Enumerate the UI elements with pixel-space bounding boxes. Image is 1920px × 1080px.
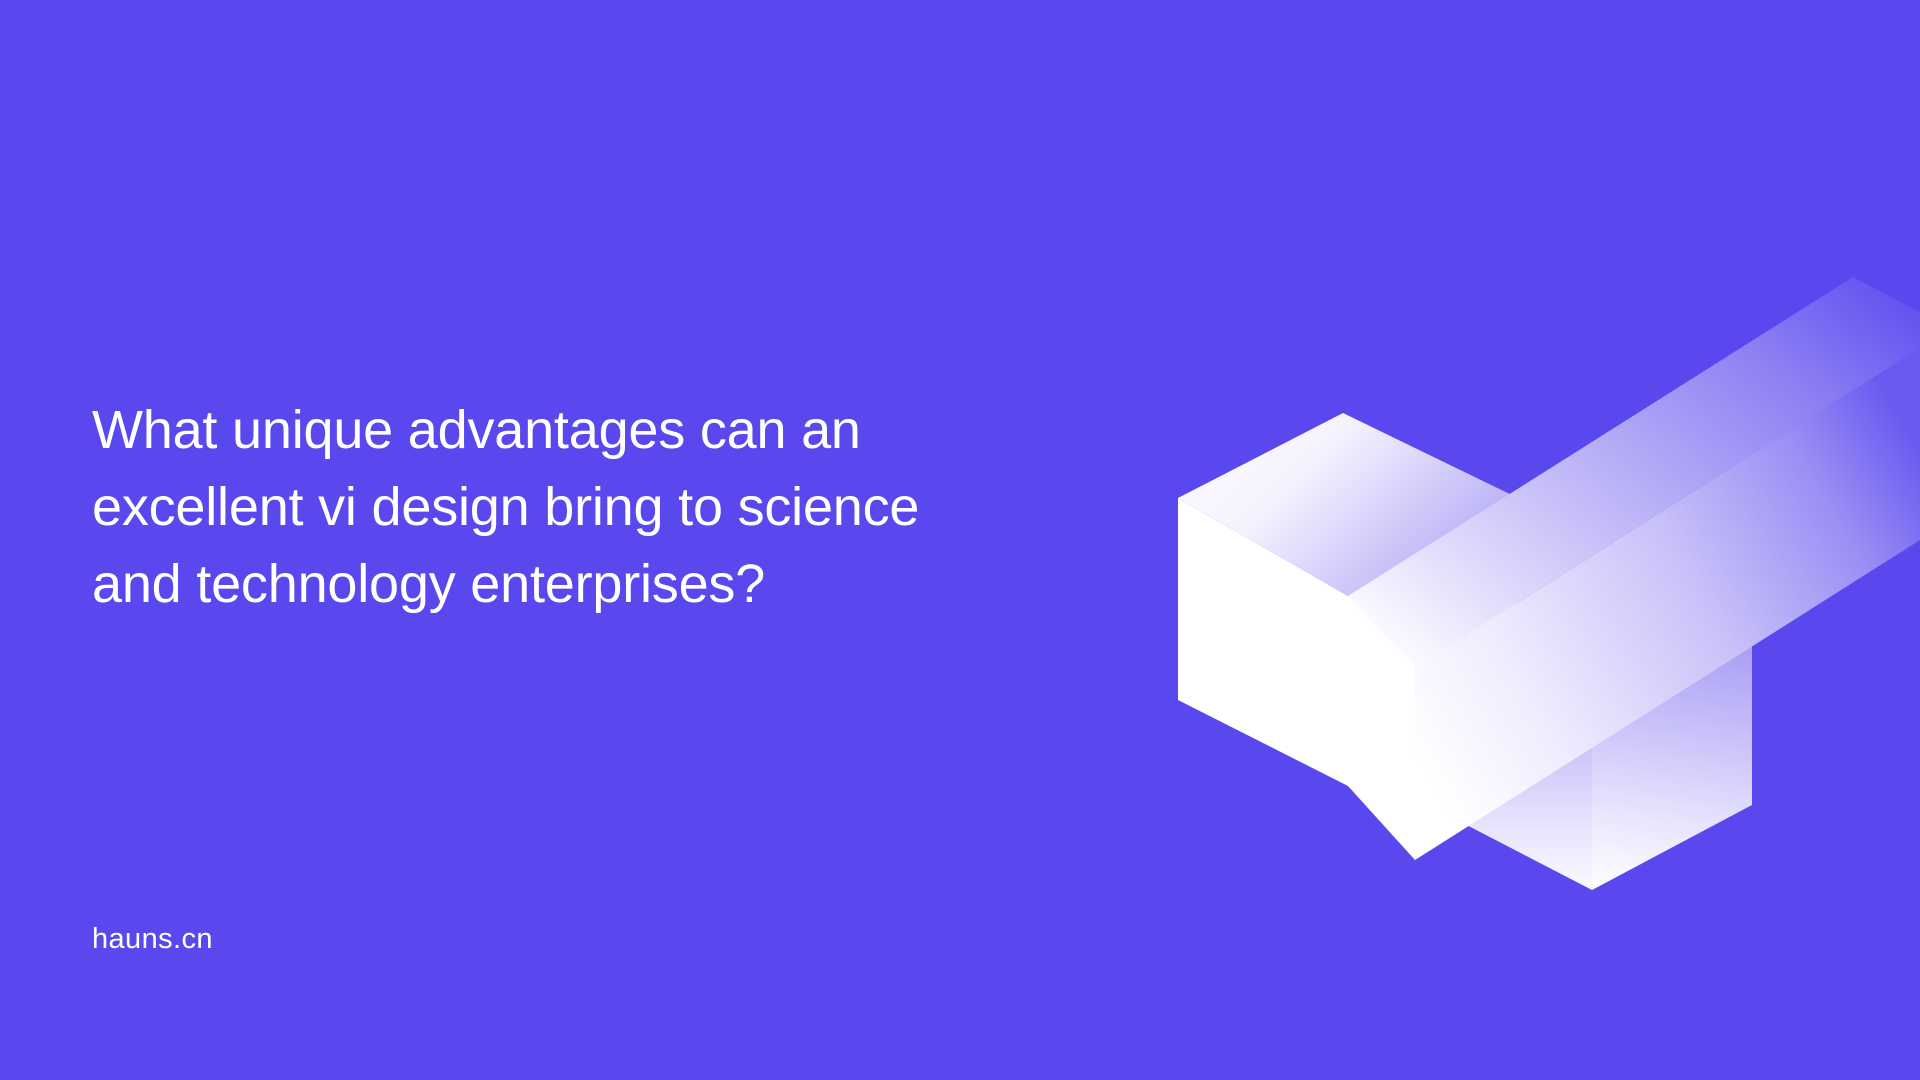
site-url-link[interactable]: hauns.cn (92, 925, 213, 954)
banner-canvas: What unique advantages can an excellent … (0, 0, 1920, 1080)
page-title: What unique advantages can an excellent … (92, 392, 972, 623)
text-column: What unique advantages can an excellent … (92, 0, 972, 1080)
iso-diagonal-bar (1348, 277, 1920, 860)
iso-column (1428, 615, 1752, 890)
iso-column-cap (1592, 615, 1752, 726)
iso-cube (1178, 413, 1518, 786)
